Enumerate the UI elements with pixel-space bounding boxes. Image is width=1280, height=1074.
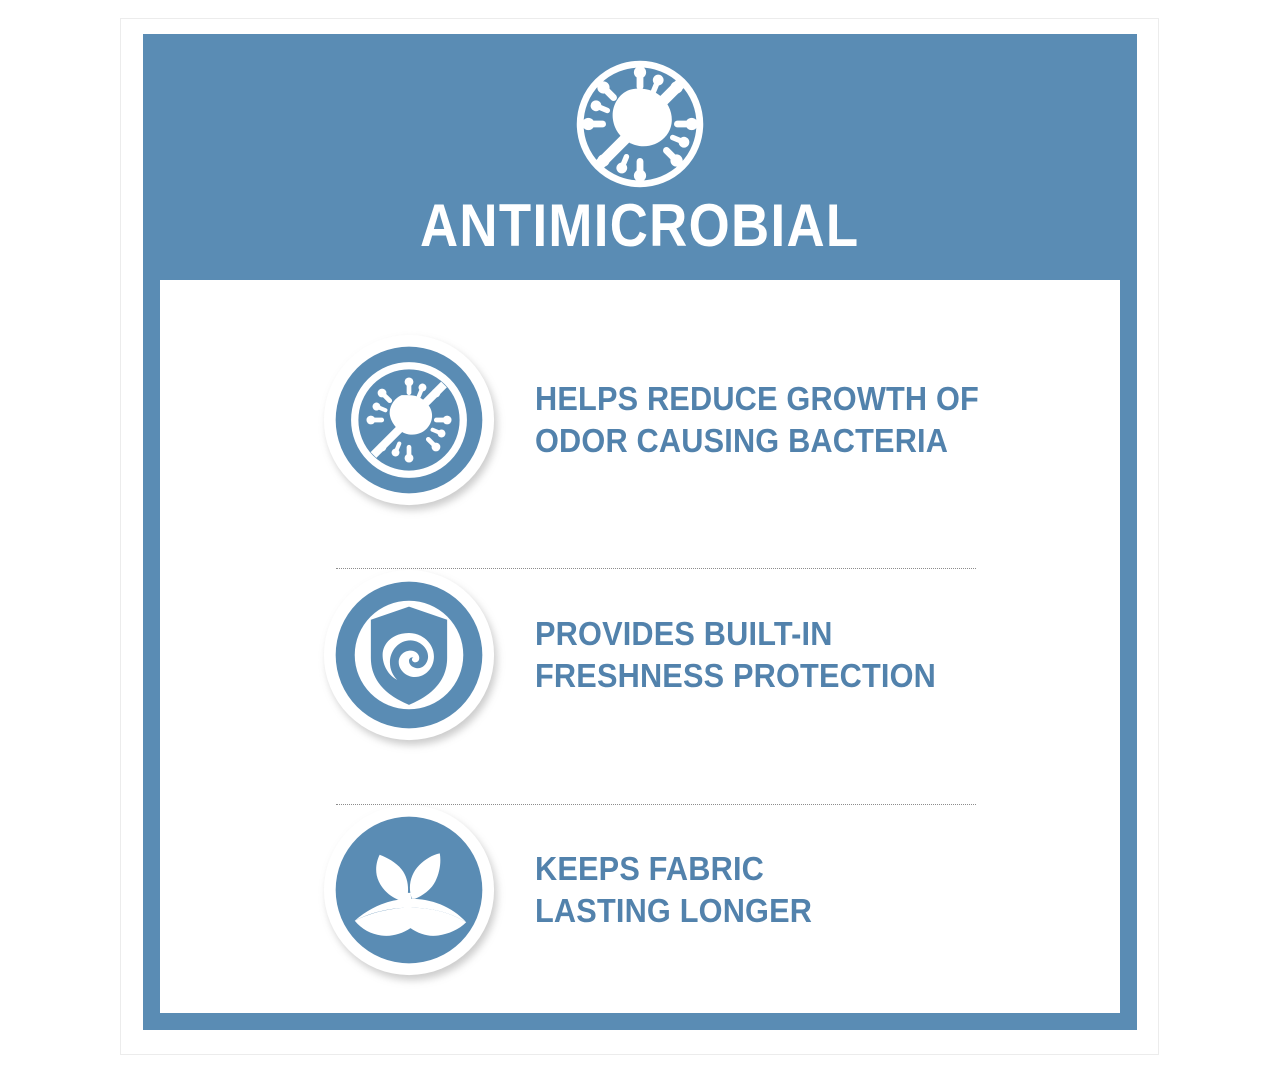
feature-row: KEEPS FABRIC LASTING LONGER — [160, 795, 1120, 985]
feature-text-line1: KEEPS FABRIC — [535, 850, 764, 887]
shield-swirl-icon — [321, 567, 497, 743]
infographic-page: ANTIMICROBIAL — [0, 0, 1280, 1074]
feature-text: HELPS REDUCE GROWTH OF ODOR CAUSING BACT… — [535, 378, 979, 462]
feature-text-line2: LASTING LONGER — [535, 892, 812, 929]
feature-row: PROVIDES BUILT-IN FRESHNESS PROTECTION — [160, 560, 1120, 750]
feature-text-line1: HELPS REDUCE GROWTH OF — [535, 380, 979, 417]
no-germs-circle-icon — [321, 332, 497, 508]
feature-icon-wrap — [321, 567, 497, 743]
feature-text: KEEPS FABRIC LASTING LONGER — [535, 848, 812, 932]
feature-icon-wrap — [321, 332, 497, 508]
feature-text-line2: FRESHNESS PROTECTION — [535, 657, 936, 694]
feature-text-line1: PROVIDES BUILT-IN — [535, 615, 833, 652]
feature-row: HELPS REDUCE GROWTH OF ODOR CAUSING BACT… — [160, 325, 1120, 515]
header: ANTIMICROBIAL — [143, 34, 1137, 280]
feature-list: HELPS REDUCE GROWTH OF ODOR CAUSING BACT… — [160, 280, 1120, 1013]
leaf-sprout-icon — [321, 802, 497, 978]
no-germs-icon — [572, 56, 708, 192]
feature-text-line2: ODOR CAUSING BACTERIA — [535, 422, 948, 459]
page-title: ANTIMICROBIAL — [420, 196, 860, 256]
blue-panel: ANTIMICROBIAL — [143, 34, 1137, 1030]
feature-icon-wrap — [321, 802, 497, 978]
feature-text: PROVIDES BUILT-IN FRESHNESS PROTECTION — [535, 613, 936, 697]
content-card: HELPS REDUCE GROWTH OF ODOR CAUSING BACT… — [160, 280, 1120, 1013]
